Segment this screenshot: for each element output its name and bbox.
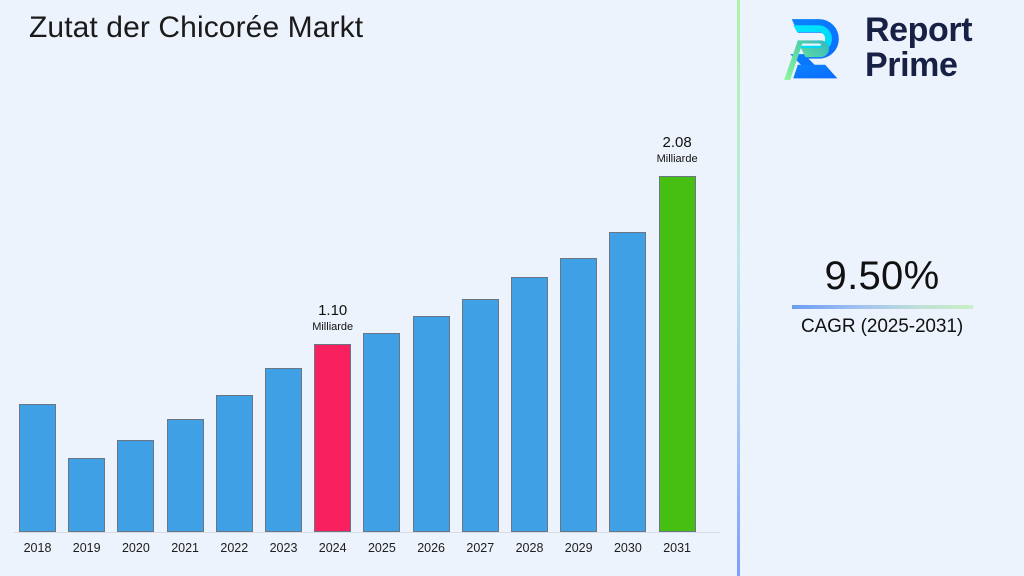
x-tick-2022: 2022 [208, 541, 261, 555]
bar-2027[interactable] [462, 299, 499, 532]
chart-panel: Zutat der Chicorée Markt 201820192020202… [0, 0, 737, 576]
x-tick-2024: 2024 [306, 541, 359, 555]
x-tick-2023: 2023 [257, 541, 310, 555]
bar-2024[interactable] [314, 344, 351, 532]
bar-value-label-2024: 1.10 [288, 302, 377, 319]
cagr-label: CAGR (2025-2031) [740, 316, 1024, 338]
bar-2031[interactable] [659, 176, 696, 532]
brand-panel: Report Prime 9.50% CAGR (2025-2031) [740, 0, 1024, 576]
bar-2025[interactable] [363, 333, 400, 532]
cagr-value: 9.50% [740, 255, 1024, 297]
x-tick-2027: 2027 [454, 541, 507, 555]
x-tick-2018: 2018 [11, 541, 64, 555]
x-tick-2025: 2025 [355, 541, 408, 555]
bar-2021[interactable] [167, 419, 204, 532]
screenshot-root: Zutat der Chicorée Markt 201820192020202… [0, 0, 1024, 576]
bar-2026[interactable] [413, 316, 450, 532]
x-tick-2021: 2021 [159, 541, 212, 555]
bar-2019[interactable] [68, 458, 105, 532]
bar-2028[interactable] [511, 277, 548, 532]
brand-name-line1: Report [865, 11, 972, 49]
x-tick-2019: 2019 [60, 541, 113, 555]
cagr-divider-rule [792, 305, 973, 309]
brand-logo: Report Prime [775, 10, 972, 86]
x-tick-2020: 2020 [109, 541, 162, 555]
x-tick-2030: 2030 [601, 541, 654, 555]
brand-name-line2: Prime [865, 48, 972, 83]
bar-2023[interactable] [265, 368, 302, 532]
x-tick-2026: 2026 [405, 541, 458, 555]
report-prime-logo-icon [775, 10, 851, 86]
x-tick-2029: 2029 [552, 541, 605, 555]
bar-unit-label-2031: Milliarde [633, 153, 722, 165]
bar-2029[interactable] [560, 258, 597, 532]
bar-2020[interactable] [117, 440, 154, 532]
bar-chart-plot: 20182019202020212022202320241.10Milliard… [0, 0, 737, 576]
x-tick-2028: 2028 [503, 541, 556, 555]
bar-2030[interactable] [609, 232, 646, 532]
cagr-block: 9.50% CAGR (2025-2031) [740, 255, 1024, 338]
bar-unit-label-2024: Milliarde [288, 321, 377, 333]
bar-value-label-2031: 2.08 [633, 134, 722, 151]
x-axis-line [14, 532, 720, 533]
brand-name: Report Prime [865, 13, 972, 83]
bar-2022[interactable] [216, 395, 253, 532]
bar-2018[interactable] [19, 404, 56, 532]
x-tick-2031: 2031 [651, 541, 704, 555]
